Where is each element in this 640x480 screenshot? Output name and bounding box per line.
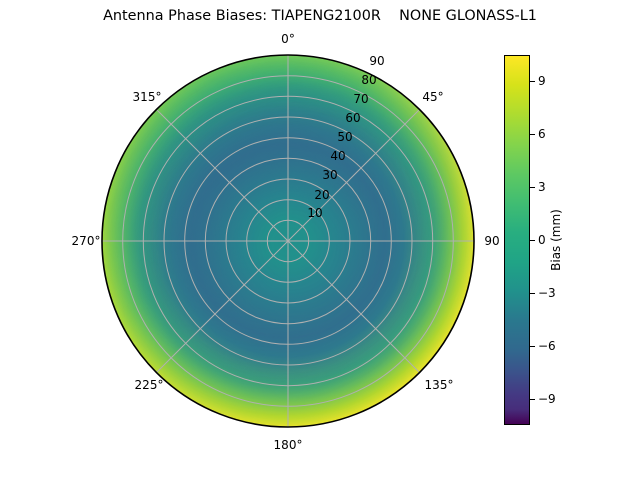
colorbar-tick-6: 6 xyxy=(538,127,546,141)
colorbar-tick-mark-6 xyxy=(530,134,535,135)
colorbar-tick-9: 9 xyxy=(538,74,546,88)
radial-tick-20: 20 xyxy=(314,188,329,202)
colorbar-axis-label: Bias (mm) xyxy=(549,209,563,271)
figure-canvas: Antenna Phase Biases: TIAPENG2100R NONE … xyxy=(0,0,640,480)
colorbar-tick-mark-3 xyxy=(530,187,535,188)
colorbar-tick-0: 0 xyxy=(538,233,546,247)
angular-tick-180: 180° xyxy=(274,438,303,452)
angular-tick-0: 0° xyxy=(281,32,295,46)
colorbar-tick-neg6: −6 xyxy=(538,339,556,353)
radial-tick-60: 60 xyxy=(345,111,360,125)
angular-tick-315: 315° xyxy=(133,90,162,104)
radial-tick-50: 50 xyxy=(337,130,352,144)
colorbar-gradient xyxy=(504,55,530,425)
colorbar-tick-mark-neg3 xyxy=(530,293,535,294)
radial-tick-30: 30 xyxy=(322,168,337,182)
colorbar-tick-neg9: −9 xyxy=(538,392,556,406)
colorbar-tick-mark-9 xyxy=(530,81,535,82)
colorbar-tick-neg3: −3 xyxy=(538,286,556,300)
angular-tick-90: 90 xyxy=(484,234,499,248)
radial-tick-80: 80 xyxy=(361,73,376,87)
colorbar-tick-mark-0 xyxy=(530,240,535,241)
radial-tick-10: 10 xyxy=(307,206,322,220)
angular-tick-270: 270° xyxy=(72,234,101,248)
radial-tick-70: 70 xyxy=(353,92,368,106)
angular-tick-225: 225° xyxy=(135,378,164,392)
radial-tick-90: 90 xyxy=(369,54,384,68)
polar-angular-gridlines xyxy=(102,55,474,427)
angular-tick-45: 45° xyxy=(422,90,443,104)
radial-tick-40: 40 xyxy=(330,149,345,163)
colorbar-tick-mark-neg9 xyxy=(530,399,535,400)
colorbar-tick-3: 3 xyxy=(538,180,546,194)
colorbar-tick-mark-neg6 xyxy=(530,346,535,347)
angular-tick-135: 135° xyxy=(425,378,454,392)
colorbar: 9 6 3 0 −3 −6 −9 xyxy=(504,55,530,425)
